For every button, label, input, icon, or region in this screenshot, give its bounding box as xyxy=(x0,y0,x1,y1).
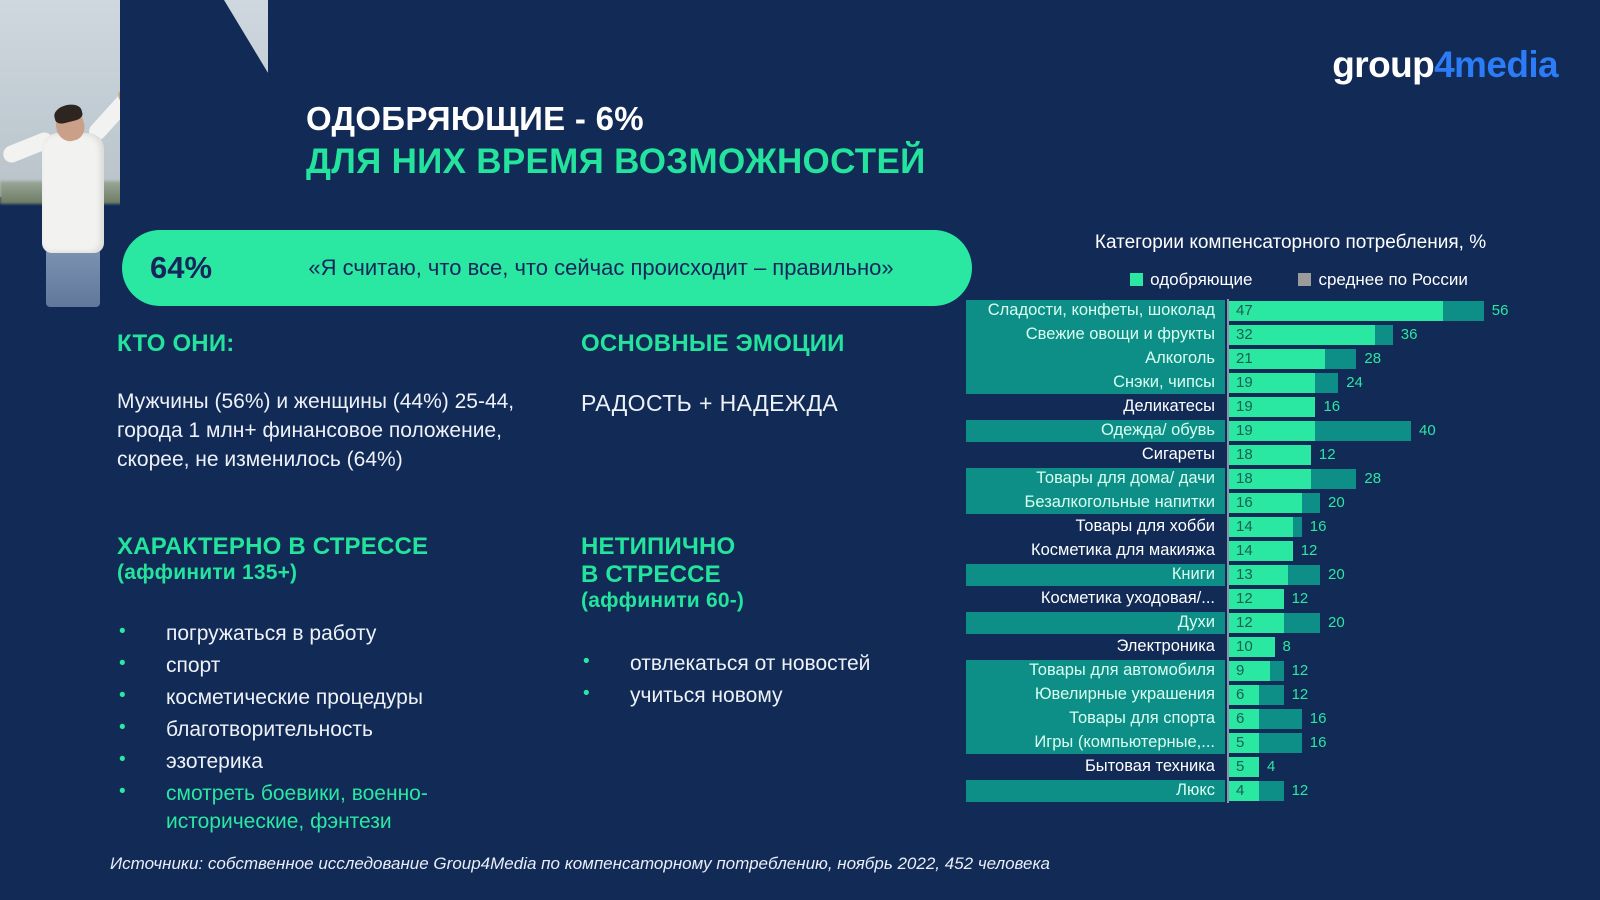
chart-category-label: Безалкогольные напитки xyxy=(963,493,1221,512)
chart-value-russia-average: 16 xyxy=(1310,709,1327,729)
typical-stress-list: погружаться в работуспорткосметические п… xyxy=(117,620,537,839)
chart-value-russia-average: 4 xyxy=(1267,757,1275,777)
chart-bar-group: 612 xyxy=(1229,685,1563,705)
typical-stress-heading: ХАРАКТЕРНО В СТРЕССЕ (аффинити 135+) xyxy=(117,533,428,585)
chart-bar-group: 2128 xyxy=(1229,349,1563,369)
chart-category-label: Товары для хобби xyxy=(963,517,1221,536)
chart-row: Ювелирные украшения612 xyxy=(963,683,1563,707)
atypical-stress-list: отвлекаться от новостейучиться новому xyxy=(581,650,941,714)
chart-value-russia-average: 12 xyxy=(1292,685,1309,705)
chart-category-label: Косметика для макияжа xyxy=(963,541,1221,560)
chart-value-russia-average: 12 xyxy=(1301,541,1318,561)
logo-text-4media: 4media xyxy=(1434,44,1558,85)
chart-row: Товары для спорта616 xyxy=(963,707,1563,731)
chart-bar-group: 3236 xyxy=(1229,325,1563,345)
typical-stress-title: ХАРАКТЕРНО В СТРЕССЕ xyxy=(117,533,428,560)
typical-stress-item: погружаться в работу xyxy=(117,620,537,648)
chart-category-label: Сигареты xyxy=(963,445,1221,464)
chart-category-label: Электроника xyxy=(963,637,1221,656)
chart-category-label: Одежда/ обувь xyxy=(963,421,1221,440)
chart-bar-group: 1320 xyxy=(1229,565,1563,585)
chart-value-approving: 9 xyxy=(1236,661,1244,681)
chart-value-approving: 47 xyxy=(1236,301,1253,321)
chart-bar-group: 4756 xyxy=(1229,301,1563,321)
chart-bar-group: 912 xyxy=(1229,661,1563,681)
chart-value-russia-average: 16 xyxy=(1310,517,1327,537)
chart-row: Электроника108 xyxy=(963,635,1563,659)
chart-value-russia-average: 12 xyxy=(1292,661,1309,681)
chart-category-label: Товары для автомобиля xyxy=(963,661,1221,680)
chart-value-russia-average: 16 xyxy=(1310,733,1327,753)
atypical-stress-heading: НЕТИПИЧНО В СТРЕССЕ (аффинити 60-) xyxy=(581,533,744,613)
chart-value-russia-average: 12 xyxy=(1292,589,1309,609)
chart-value-approving: 10 xyxy=(1236,637,1253,657)
typical-stress-item: эзотерика xyxy=(117,748,537,776)
chart-category-label: Товары для спорта xyxy=(963,709,1221,728)
atypical-stress-title-line1: НЕТИПИЧНО xyxy=(581,533,735,560)
chart-category-label: Свежие овощи и фрукты xyxy=(963,325,1221,344)
chart-row: Игры (компьютерные,...516 xyxy=(963,731,1563,755)
chart-plot-area: Сладости, конфеты, шоколад4756Свежие ово… xyxy=(963,299,1563,803)
typical-stress-item: спорт xyxy=(117,652,537,680)
chart-bar-group: 1940 xyxy=(1229,421,1563,441)
chart-value-approving: 19 xyxy=(1236,421,1253,441)
legend-item-russia-average: среднее по России xyxy=(1298,270,1467,290)
chart-bar-group: 1812 xyxy=(1229,445,1563,465)
chart-value-approving: 19 xyxy=(1236,373,1253,393)
chart-category-label: Товары для дома/ дачи xyxy=(963,469,1221,488)
chart-row: Товары для дома/ дачи1828 xyxy=(963,467,1563,491)
chart-category-label: Деликатесы xyxy=(963,397,1221,416)
legend-label-russia-average: среднее по России xyxy=(1318,270,1467,290)
chart-value-approving: 19 xyxy=(1236,397,1253,417)
chart-title: Категории компенсаторного потребления, % xyxy=(1073,231,1508,256)
chart-bar-group: 108 xyxy=(1229,637,1563,657)
chart-value-approving: 18 xyxy=(1236,469,1253,489)
chart-value-approving: 12 xyxy=(1236,613,1253,633)
quote-percent: 64% xyxy=(150,250,258,286)
legend-item-approving: одобряющие xyxy=(1130,270,1252,290)
chart-bar-group: 516 xyxy=(1229,733,1563,753)
photo-man-jeans xyxy=(46,247,100,307)
chart-category-label: Игры (компьютерные,... xyxy=(963,733,1221,752)
chart-value-russia-average: 8 xyxy=(1283,637,1291,657)
chart-value-russia-average: 20 xyxy=(1328,493,1345,513)
chart-bar-group: 412 xyxy=(1229,781,1563,801)
chart-row: Свежие овощи и фрукты3236 xyxy=(963,323,1563,347)
photo-man-shirt xyxy=(42,133,104,253)
chart-value-russia-average: 36 xyxy=(1401,325,1418,345)
chart-value-approving: 21 xyxy=(1236,349,1253,369)
chart-value-russia-average: 28 xyxy=(1364,349,1381,369)
legend-swatch-approving xyxy=(1130,273,1143,286)
who-heading: КТО ОНИ: xyxy=(117,330,235,358)
chart-value-approving: 13 xyxy=(1236,565,1253,585)
chart-legend: одобряющие среднее по России xyxy=(1089,270,1509,290)
chart-value-approving: 18 xyxy=(1236,445,1253,465)
legend-label-approving: одобряющие xyxy=(1150,270,1252,290)
quote-pill: 64% «Я считаю, что все, что сейчас проис… xyxy=(122,230,972,306)
chart-value-russia-average: 40 xyxy=(1419,421,1436,441)
typical-stress-subtitle: (аффинити 135+) xyxy=(117,561,428,585)
chart-value-approving: 12 xyxy=(1236,589,1253,609)
logo-text-group: group xyxy=(1332,44,1434,85)
chart-value-approving: 5 xyxy=(1236,733,1244,753)
chart-bar-group: 1924 xyxy=(1229,373,1563,393)
atypical-stress-item: отвлекаться от новостей xyxy=(581,650,941,678)
chart-row: Снэки, чипсы1924 xyxy=(963,371,1563,395)
chart-bar-group: 1916 xyxy=(1229,397,1563,417)
page-title-line2: ДЛЯ НИХ ВРЕМЯ ВОЗМОЖНОСТЕЙ xyxy=(306,141,926,182)
chart-value-approving: 5 xyxy=(1236,757,1244,777)
chart-bar-group: 1416 xyxy=(1229,517,1563,537)
chart-category-label: Бытовая техника xyxy=(963,757,1221,776)
legend-swatch-russia-average xyxy=(1298,273,1311,286)
source-footnote: Источники: собственное исследование Grou… xyxy=(110,854,1050,874)
chart-row: Товары для хобби1416 xyxy=(963,515,1563,539)
emotions-heading: ОСНОВНЫЕ ЭМОЦИИ xyxy=(581,330,845,358)
chart-value-russia-average: 20 xyxy=(1328,565,1345,585)
quote-text: «Я считаю, что все, что сейчас происходи… xyxy=(258,254,972,282)
typical-stress-item: благотворительность xyxy=(117,716,537,744)
typical-stress-item: смотреть боевики, военно-исторические, ф… xyxy=(117,780,537,836)
chart-bar-group: 1412 xyxy=(1229,541,1563,561)
group4media-logo: group4media xyxy=(1332,44,1558,86)
chart-bar-group: 1620 xyxy=(1229,493,1563,513)
chart-category-label: Снэки, чипсы xyxy=(963,373,1221,392)
chart-row: Одежда/ обувь1940 xyxy=(963,419,1563,443)
chart-category-label: Алкоголь xyxy=(963,349,1221,368)
chart-bar-approving xyxy=(1229,301,1443,321)
chart-bar-group: 1212 xyxy=(1229,589,1563,609)
chart-value-approving: 6 xyxy=(1236,709,1244,729)
emotions-body: РАДОСТЬ + НАДЕЖДА xyxy=(581,388,971,420)
chart-bar-group: 54 xyxy=(1229,757,1563,777)
chart-bar-group: 1828 xyxy=(1229,469,1563,489)
chart-value-approving: 32 xyxy=(1236,325,1253,345)
chart-value-approving: 6 xyxy=(1236,685,1244,705)
chart-bar-group: 616 xyxy=(1229,709,1563,729)
chart-row: Косметика для макияжа1412 xyxy=(963,539,1563,563)
chart-row: Сигареты1812 xyxy=(963,443,1563,467)
chart-value-russia-average: 16 xyxy=(1323,397,1340,417)
chart-value-approving: 14 xyxy=(1236,517,1253,537)
chart-row: Косметика уходовая/...1212 xyxy=(963,587,1563,611)
page-title-line1: ОДОБРЯЮЩИЕ - 6% xyxy=(306,100,926,139)
chart-value-russia-average: 24 xyxy=(1346,373,1363,393)
chart-category-label: Сладости, конфеты, шоколад xyxy=(963,301,1221,320)
chart-value-approving: 4 xyxy=(1236,781,1244,801)
compensatory-consumption-chart: Категории компенсаторного потребления, %… xyxy=(963,231,1563,803)
slide-canvas: group4media ОДОБРЯЮЩИЕ - 6% ДЛЯ НИХ ВРЕМ… xyxy=(0,0,1600,900)
chart-row: Товары для автомобиля912 xyxy=(963,659,1563,683)
chart-value-approving: 14 xyxy=(1236,541,1253,561)
typical-stress-item: косметические процедуры xyxy=(117,684,537,712)
title-block: ОДОБРЯЮЩИЕ - 6% ДЛЯ НИХ ВРЕМЯ ВОЗМОЖНОСТ… xyxy=(306,100,926,182)
atypical-stress-subtitle: (аффинити 60-) xyxy=(581,589,744,613)
chart-value-russia-average: 12 xyxy=(1292,781,1309,801)
chart-row: Духи1220 xyxy=(963,611,1563,635)
chart-row: Книги1320 xyxy=(963,563,1563,587)
chart-row: Алкоголь2128 xyxy=(963,347,1563,371)
chart-category-label: Книги xyxy=(963,565,1221,584)
chart-row: Деликатесы1916 xyxy=(963,395,1563,419)
chart-category-label: Косметика уходовая/... xyxy=(963,589,1221,608)
chart-value-russia-average: 28 xyxy=(1364,469,1381,489)
atypical-stress-title-line2: В СТРЕССЕ xyxy=(581,561,721,588)
chart-row: Бытовая техника54 xyxy=(963,755,1563,779)
who-body: Мужчины (56%) и женщины (44%) 25-44, гор… xyxy=(117,388,517,475)
chart-row: Люкс412 xyxy=(963,779,1563,803)
chart-value-russia-average: 20 xyxy=(1328,613,1345,633)
atypical-stress-item: учиться новому xyxy=(581,682,941,710)
chart-value-russia-average: 56 xyxy=(1492,301,1509,321)
chart-row: Сладости, конфеты, шоколад4756 xyxy=(963,299,1563,323)
chart-category-label: Люкс xyxy=(963,781,1221,800)
chart-bar-group: 1220 xyxy=(1229,613,1563,633)
chart-category-label: Духи xyxy=(963,613,1221,632)
chart-category-label: Ювелирные украшения xyxy=(963,685,1221,704)
chart-value-approving: 16 xyxy=(1236,493,1253,513)
chart-row: Безалкогольные напитки1620 xyxy=(963,491,1563,515)
chart-value-russia-average: 12 xyxy=(1319,445,1336,465)
